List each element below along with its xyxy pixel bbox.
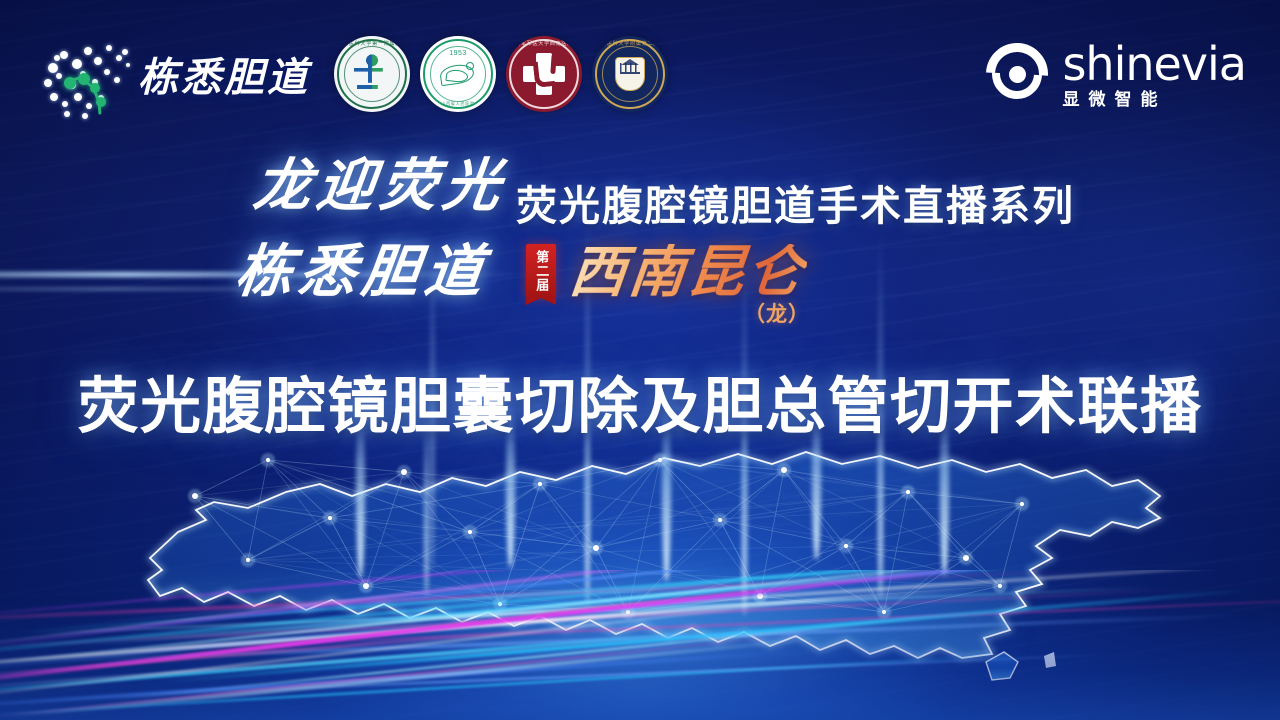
map-node	[844, 544, 848, 548]
particle-dot	[50, 93, 58, 101]
shinevia-subtitle: 显微智能	[1062, 91, 1166, 108]
shinevia-wordmark-block: shinevia 显微智能	[1062, 41, 1246, 108]
map-node	[266, 458, 270, 462]
particle-dot	[74, 93, 82, 101]
particle-dot	[106, 45, 112, 51]
map-node	[593, 545, 599, 551]
map-node	[963, 555, 969, 561]
hospital-emblem-1: 西南医科大学第一附属医院	[334, 36, 410, 112]
particle-dot	[104, 69, 110, 75]
map-node	[246, 558, 250, 562]
particle-dot	[84, 47, 92, 55]
particle-dot	[86, 103, 92, 109]
season-title-block: 西南昆仑 （龙）	[570, 244, 806, 300]
particle-dot	[44, 79, 52, 87]
particle-dot	[72, 59, 82, 69]
calligraphy-block: 龙迎荧光 栋悉胆道	[236, 152, 536, 324]
particle-dot	[62, 101, 68, 107]
map-node	[1020, 502, 1024, 506]
emblem-year: 1953	[420, 50, 496, 57]
mesh-line	[195, 460, 268, 496]
hospital-emblem-4: 重庆医科大学附属第二医院	[592, 36, 668, 112]
emblem-caption-2: 山西省人民医院	[420, 102, 496, 106]
particle-dot	[126, 63, 130, 67]
light-trail-layer	[0, 570, 1280, 720]
particle-dot	[56, 73, 62, 79]
page-title: 荧光腹腔镜胆囊切除及胆总管切开术联播	[0, 356, 1280, 445]
particle-network-icon	[34, 33, 132, 115]
particle-dot	[82, 113, 88, 119]
map-node	[401, 469, 407, 475]
shield-crest-icon	[615, 57, 645, 91]
hospital-emblem-group: 西南医科大学第一附属医院 1953 山西省人民医院 陆军军医大学西南医院	[334, 36, 668, 112]
shinevia-wordmark: shinevia	[1062, 41, 1246, 87]
header-bar: 栋悉胆道 西南医科大学第一附属医院 1953 山西省人民医院 陆军军医大	[0, 0, 1280, 148]
season-badge: 第二届	[526, 244, 556, 298]
particle-dot	[122, 49, 128, 55]
shinevia-swirl-icon	[986, 43, 1048, 105]
map-node	[328, 516, 332, 520]
emblem-caption-4: 重庆医科大学附属第二医院	[592, 42, 668, 47]
hospital-emblem-3: 陆军军医大学西南医院	[506, 36, 582, 112]
map-node	[906, 490, 910, 494]
brand-left: 栋悉胆道	[34, 33, 310, 115]
particle-dot	[114, 77, 120, 83]
map-node	[538, 482, 542, 486]
mesh-line-long	[268, 460, 404, 472]
emblem-caption-1: 西南医科大学第一附属医院	[334, 42, 410, 47]
season-row: 第二届 西南昆仑 （龙）	[526, 244, 806, 300]
particle-dot	[116, 55, 122, 61]
poster-canvas: 栋悉胆道 西南医科大学第一附属医院 1953 山西省人民医院 陆军军医大	[0, 0, 1280, 720]
hospital-emblem-2: 1953 山西省人民医院	[420, 36, 496, 112]
map-node	[718, 518, 722, 522]
season-title: 西南昆仑	[567, 244, 809, 300]
dove-crest-icon	[438, 60, 478, 88]
season-suffix: （龙）	[744, 298, 810, 328]
brand-right: shinevia 显微智能	[986, 41, 1246, 108]
particle-dot	[64, 111, 70, 117]
map-node	[781, 467, 787, 473]
emblem-caption-3: 陆军军医大学西南医院	[506, 42, 582, 47]
particle-dot	[94, 57, 102, 65]
particle-dot	[48, 63, 58, 73]
map-node	[468, 530, 472, 534]
brand-left-name: 栋悉胆道	[138, 45, 310, 103]
calligraphy-line-1: 龙迎荧光	[251, 158, 510, 215]
series-subtitle: 荧光腹腔镜胆道手术直播系列	[516, 172, 1075, 232]
particle-dot	[60, 51, 68, 59]
map-node	[192, 493, 198, 499]
calligraphy-line-2: 栋悉胆道	[233, 244, 492, 301]
particle-dot	[54, 55, 60, 61]
hospital-crest-icon	[352, 54, 392, 94]
red-cross-crest-icon	[523, 53, 565, 95]
